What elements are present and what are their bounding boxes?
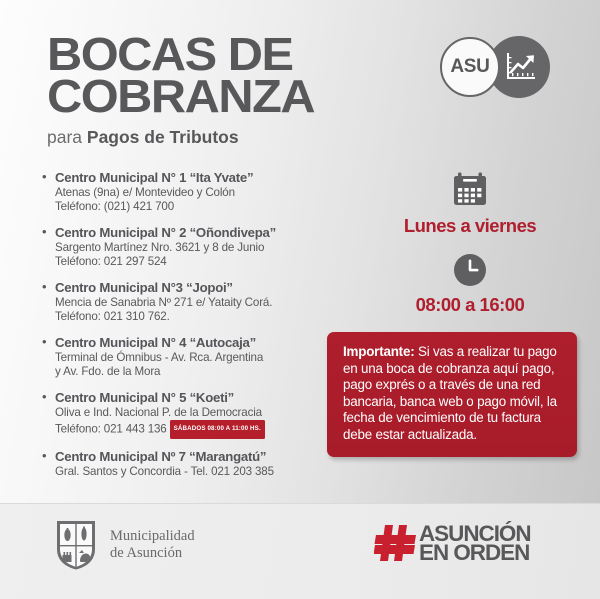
footer-divider [0, 503, 600, 504]
campaign-line-2: EN ORDEN [419, 543, 531, 563]
calendar-icon [451, 172, 489, 208]
poster-root: BOCAS DE COBRANZA para Pagos de Tributos [0, 0, 600, 599]
center-phone: Teléfono: 021 297 524 [55, 255, 342, 269]
center-address: Sargento Martínez Nro. 3621 y 8 de Junio [55, 241, 342, 255]
list-item: Centro Municipal N° 2 “Oñondivepa” Sarge… [42, 225, 342, 269]
list-item: Centro Municipal N° 4 “Autocaja” Termina… [42, 335, 342, 379]
list-item: Centro Municipal N° 5 “Koeti” Oliva e In… [42, 390, 342, 439]
center-name: Centro Municipal N° 1 “Ita Yvate” [55, 170, 342, 186]
muni-line-2: de Asunción [110, 545, 195, 562]
schedule-spacer [350, 237, 590, 249]
muni-line-1: Municipalidad [110, 528, 195, 545]
center-address: Mencia de Sanabria Nº 271 e/ Yataity Cor… [55, 296, 342, 310]
list-item: Centro Municipal N°3 “Jopoi” Mencia de S… [42, 280, 342, 324]
center-name: Centro Municipal N°3 “Jopoi” [55, 280, 342, 296]
center-name: Centro Municipal N° 2 “Oñondivepa” [55, 225, 342, 241]
municipal-shield-icon [55, 519, 97, 571]
chart-growth-icon [505, 52, 537, 82]
center-address: Gral. Santos y Concordia - Tel. 021 203 … [55, 465, 342, 479]
municipality-name: Municipalidad de Asunción [110, 528, 195, 562]
saturday-hours-badge: SÁBADOS 08:00 A 11:00 HS. [170, 420, 265, 439]
center-phone-row: Teléfono: 021 443 136SÁBADOS 08:00 A 11:… [55, 420, 342, 439]
schedule-hours: 08:00 a 16:00 [350, 294, 590, 316]
center-phone: Teléfono: 021 443 136 [55, 422, 167, 435]
asu-light-circle: ASU [440, 37, 500, 97]
center-address: Atenas (9na) e/ Montevideo y Colón [55, 186, 342, 200]
important-label: Importante: [343, 344, 414, 359]
clock-icon [453, 253, 487, 287]
center-address-2: y Av. Fdo. de la Mora [55, 365, 342, 379]
center-address: Terminal de Ómnibus - Av. Rca. Argentina [55, 351, 342, 365]
centers-list: Centro Municipal N° 1 “Ita Yvate” Atenas… [42, 170, 342, 490]
center-address: Oliva e Ind. Nacional P. de la Democraci… [55, 406, 342, 420]
asu-logo-text: ASU [450, 56, 489, 78]
center-name: Centro Municipal N° 5 “Koeti” [55, 390, 342, 406]
page-title: BOCAS DE COBRANZA para Pagos de Tributos [47, 33, 299, 148]
schedule-days: Lunes a viernes [350, 215, 590, 237]
asu-logo: ASU [440, 36, 550, 98]
center-name: Centro Municipal N° 4 “Autocaja” [55, 335, 342, 351]
title-line-2: COBRANZA [47, 75, 314, 117]
calendar-icon-wrap [350, 172, 590, 208]
center-name: Centro Municipal Nº 7 “Marangatú” [55, 449, 342, 465]
list-item: Centro Municipal Nº 7 “Marangatú” Gral. … [42, 449, 342, 479]
campaign-logo: ASUNCIÓN EN ORDEN [374, 523, 528, 563]
hashtag-icon [374, 523, 418, 563]
subtitle-strong: Pagos de Tributos [87, 127, 239, 147]
campaign-text: ASUNCIÓN EN ORDEN [419, 524, 531, 563]
subtitle: para Pagos de Tributos [47, 127, 299, 148]
municipality-logo: Municipalidad de Asunción [55, 519, 195, 571]
list-item: Centro Municipal N° 1 “Ita Yvate” Atenas… [42, 170, 342, 214]
clock-icon-wrap [350, 249, 590, 287]
center-phone: Teléfono: (021) 421 700 [55, 200, 342, 214]
center-phone: Teléfono: 021 310 762. [55, 310, 342, 324]
schedule-block: Lunes a viernes 08:00 a 16:00 [350, 172, 590, 316]
important-notice: Importante: Si vas a realizar tu pago en… [327, 332, 577, 457]
subtitle-prefix: para [47, 127, 87, 147]
title-line-1: BOCAS DE [47, 33, 314, 75]
